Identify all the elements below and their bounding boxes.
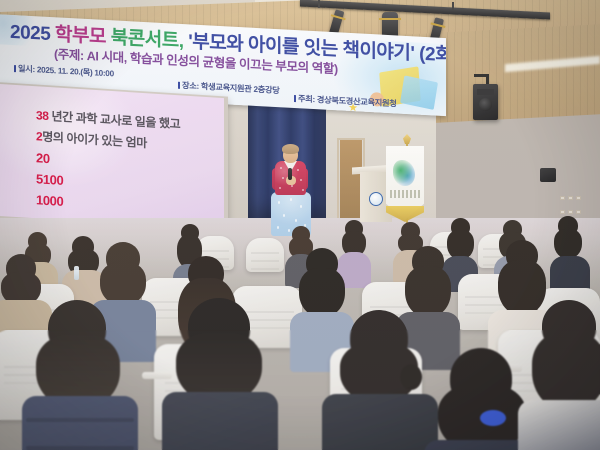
chair-armrest xyxy=(142,372,172,379)
truss-hanger xyxy=(318,0,320,8)
hair-scrunchie-icon xyxy=(480,410,506,426)
flag-emblem-icon xyxy=(393,160,415,186)
banner-meta-date: 일시: 2025. 11. 20.(목) 10:00 xyxy=(14,62,114,79)
slide-line-3-number: 5100 xyxy=(36,171,63,188)
wall-outlet-icon xyxy=(560,210,565,214)
water-bottle-icon xyxy=(74,266,79,280)
slide-line-2: 20 xyxy=(36,150,50,166)
slide-line-2-number: 20 xyxy=(36,150,50,166)
slide-line-4: 1000 xyxy=(36,192,63,209)
wall-outlet-icon xyxy=(576,196,581,200)
projection-screen: 38 년간 과학 교사로 일을 했고 2명의 아이가 있는 엄마 20 5100… xyxy=(0,84,224,230)
slide-line-4-number: 1000 xyxy=(36,192,63,209)
wall-outlet-icon xyxy=(568,196,573,200)
lectern-emblem-icon xyxy=(369,192,383,206)
chair[interactable] xyxy=(246,238,284,272)
speaker-arm xyxy=(486,74,489,84)
pa-speaker-horn xyxy=(477,89,494,95)
pa-speaker-secondary-icon xyxy=(540,168,556,182)
microphone-icon xyxy=(288,168,292,180)
wall-outlet-icon xyxy=(576,210,581,214)
slide-line-3: 5100 xyxy=(36,171,63,188)
stage-door[interactable] xyxy=(340,140,362,222)
wall-outlet-icon xyxy=(568,210,573,214)
pa-speaker-cone xyxy=(479,98,492,111)
slide-line-0-number: 38 xyxy=(36,108,49,123)
hair-bun-icon xyxy=(400,364,422,390)
wall-outlet-icon xyxy=(560,196,565,200)
flag-text-band xyxy=(390,190,422,198)
photo-scene: ★ 2025 학부모 북콘서트, '부모와 아이를 잇는 책이야기' (2회차)… xyxy=(0,0,600,450)
truss-hanger xyxy=(452,2,454,10)
presenter-hair xyxy=(282,144,299,154)
banner-title-seg-0: 2025 xyxy=(10,22,55,45)
